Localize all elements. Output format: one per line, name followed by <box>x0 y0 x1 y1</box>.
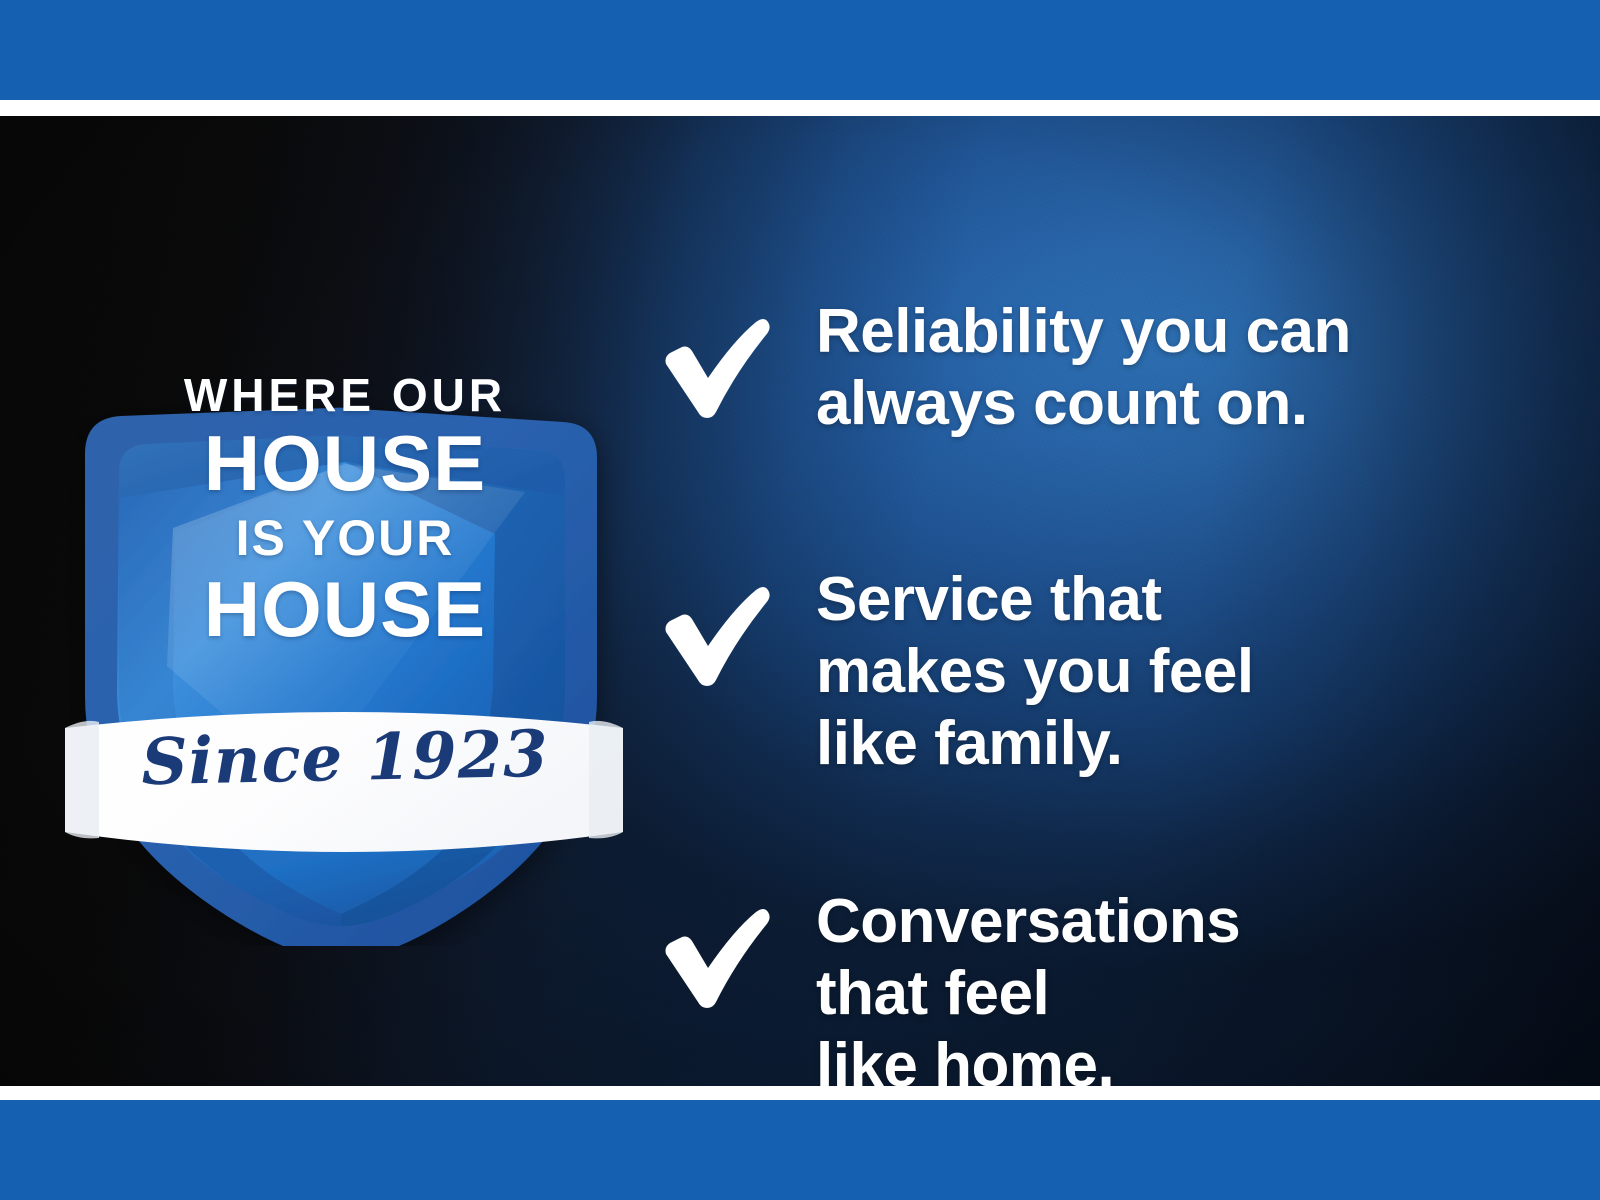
main-stage: Where Our House Is Your House Since 1923… <box>0 116 1600 1086</box>
shield-badge: Where Our House Is Your House Since 1923 <box>55 266 635 946</box>
promo-graphic: Where Our House Is Your House Since 1923… <box>0 0 1600 1200</box>
list-item: Reliability you can always count on. <box>660 296 1540 440</box>
bottom-divider <box>0 1086 1600 1100</box>
list-item: Conversations that feel like home. <box>660 886 1540 1086</box>
ribbon-fold-right <box>589 721 623 839</box>
top-divider <box>0 100 1600 116</box>
checkmark-icon <box>660 564 792 688</box>
bottom-brand-bar <box>0 1100 1600 1200</box>
list-item-text: Conversations that feel like home. <box>816 886 1540 1086</box>
ribbon-fold-left <box>65 721 99 839</box>
benefits-list: Reliability you can always count on. Ser… <box>660 272 1540 1086</box>
checkmark-icon <box>660 296 792 420</box>
checkmark-icon <box>660 886 792 1010</box>
list-item-text: Reliability you can always count on. <box>816 296 1540 440</box>
ribbon-band <box>65 712 623 852</box>
list-item: Service that makes you feel like family. <box>660 564 1540 780</box>
ribbon <box>65 712 623 852</box>
shield-icon <box>55 266 635 946</box>
list-item-text: Service that makes you feel like family. <box>816 564 1540 780</box>
top-brand-bar <box>0 0 1600 100</box>
